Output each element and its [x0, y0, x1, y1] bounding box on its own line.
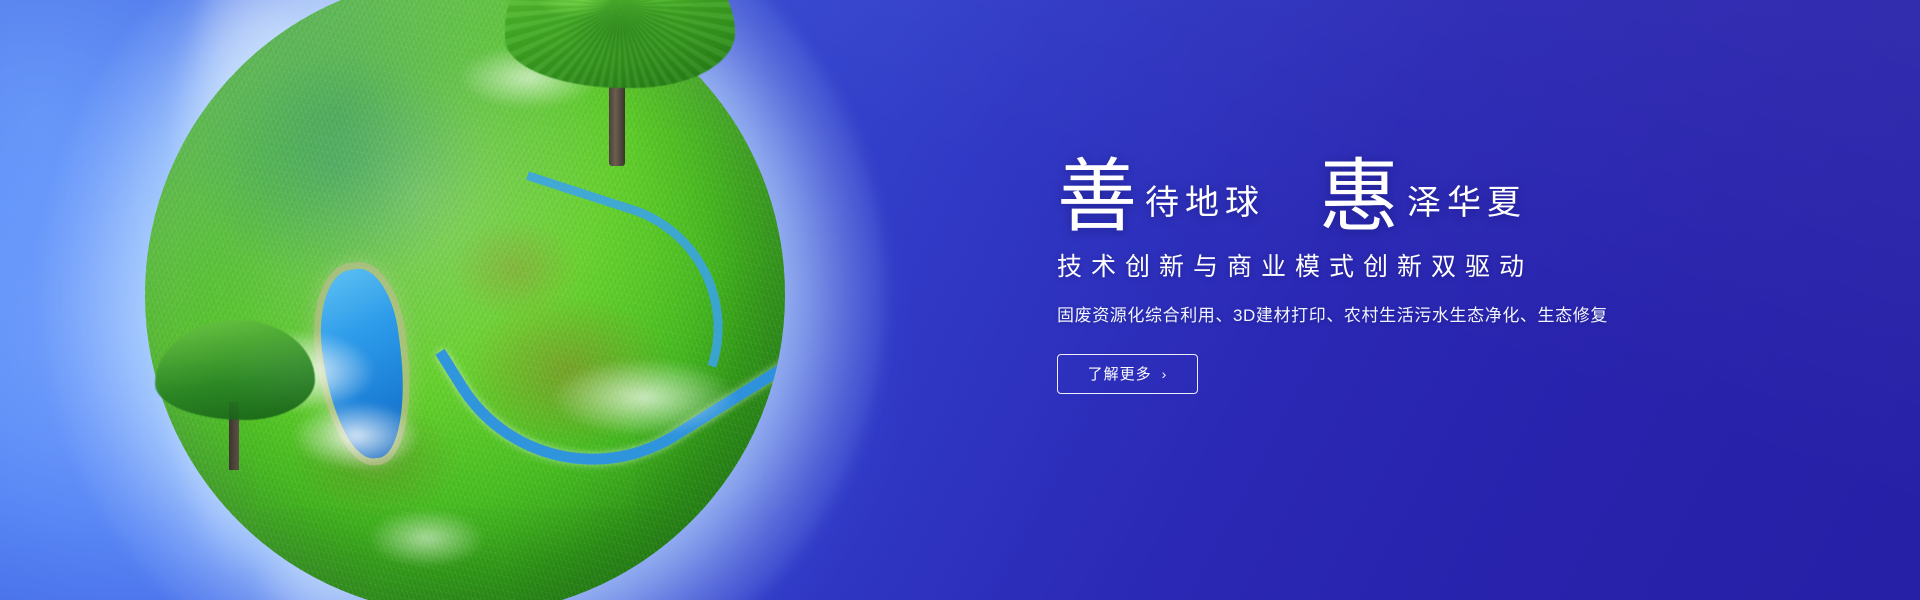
chevron-right-icon: ›	[1162, 366, 1168, 382]
hero-banner: 善 待地球 惠 泽华夏 技术创新与商业模式创新双驱动 固废资源化综合利用、3D建…	[0, 0, 1920, 600]
headline-lead-char-1: 善	[1057, 160, 1137, 234]
rim-treeline	[145, 0, 785, 600]
page-title: 善 待地球 惠 泽华夏	[1057, 132, 1817, 228]
description: 固废资源化综合利用、3D建材打印、农村生活污水生态净化、生态修复	[1057, 304, 1817, 328]
headline-rest-1: 待地球	[1137, 186, 1265, 220]
headline-lead-char-2: 惠	[1319, 160, 1399, 234]
learn-more-button[interactable]: 了解更多 ›	[1057, 354, 1198, 394]
tree-mist	[5, 0, 275, 20]
headline-rest-2: 泽华夏	[1399, 186, 1527, 220]
subtitle: 技术创新与商业模式创新双驱动	[1057, 252, 1817, 282]
green-planet	[145, 0, 785, 600]
learn-more-label: 了解更多	[1088, 363, 1152, 384]
hero-content: 善 待地球 惠 泽华夏 技术创新与商业模式创新双驱动 固废资源化综合利用、3D建…	[1057, 132, 1817, 394]
side-tree-icon	[155, 320, 315, 470]
side-tree-canopy	[155, 320, 315, 420]
globe-illustration	[35, 0, 895, 600]
